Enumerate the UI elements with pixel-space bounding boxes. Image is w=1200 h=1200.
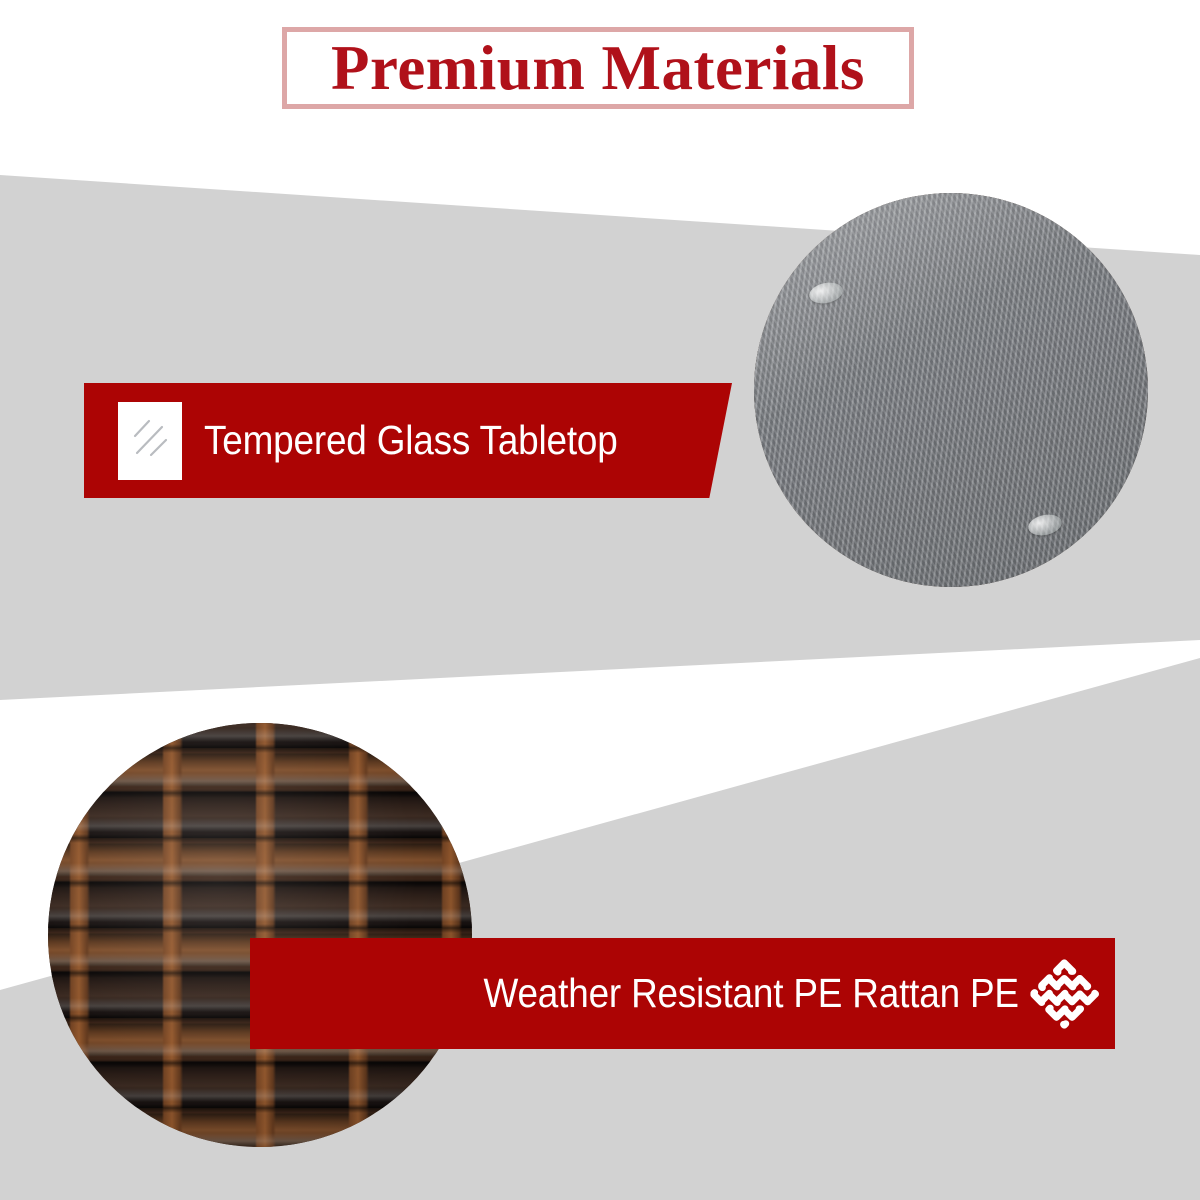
- page-title: Premium Materials: [331, 37, 865, 100]
- feature-banner-pe-rattan[interactable]: Weather Resistant PE Rattan PE: [250, 938, 1115, 1049]
- glass-tabletop-photo: [754, 193, 1148, 587]
- feature-banner-tempered-glass[interactable]: Tempered Glass Tabletop: [84, 383, 732, 498]
- rattan-weave-photo: [48, 723, 472, 1147]
- feature-label-pe-rattan: Weather Resistant PE Rattan PE: [484, 970, 1019, 1017]
- glass-pane-icon: [118, 402, 182, 480]
- weave-scene: [48, 723, 472, 1147]
- weave-vignette: [48, 723, 472, 1147]
- tempered-glass-pane: [754, 193, 1148, 587]
- page-title-box: Premium Materials: [282, 27, 914, 109]
- product-feature-infographic: Premium Materials: [0, 0, 1200, 1200]
- glass-scene: [754, 193, 1148, 587]
- feature-label-tempered-glass: Tempered Glass Tabletop: [204, 417, 618, 464]
- woven-rattan-icon: [1029, 958, 1101, 1030]
- feature-label-group: Weather Resistant PE Rattan PE: [424, 958, 1101, 1030]
